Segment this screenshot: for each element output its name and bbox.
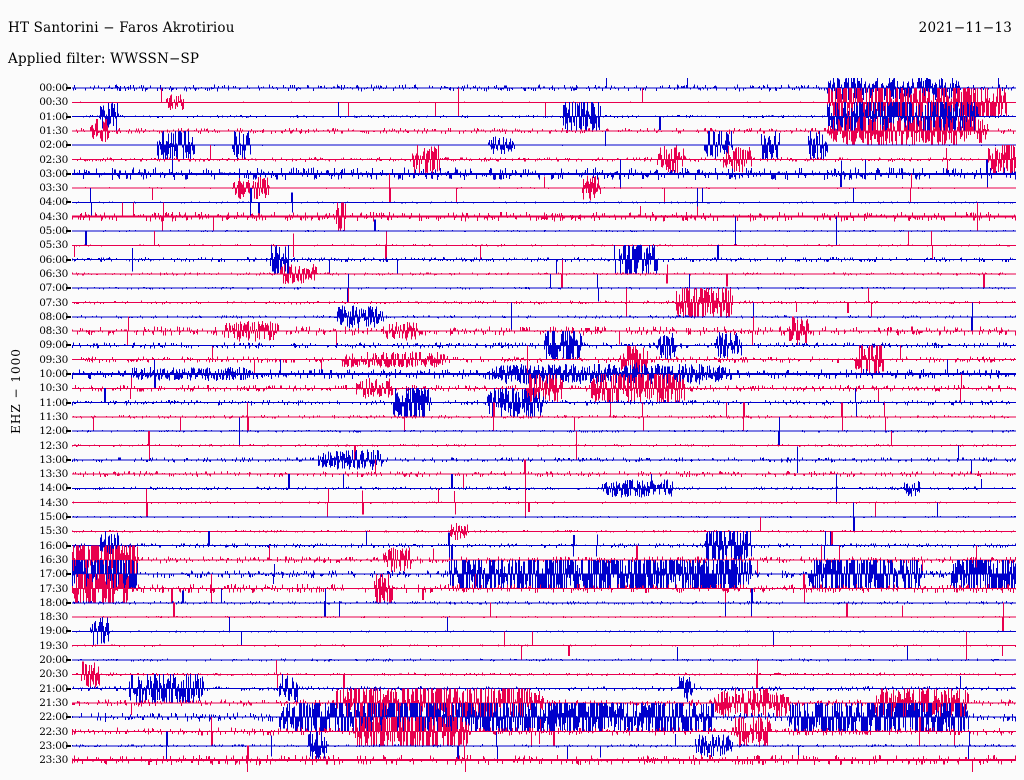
trace-waveform — [73, 746, 1016, 772]
trace-waveform — [79, 646, 1006, 662]
trace-row — [72, 288, 1016, 317]
trace-row — [72, 560, 1016, 589]
trace-waveform — [73, 703, 1016, 732]
trace-row — [72, 488, 1016, 517]
trace-canvas — [0, 78, 1024, 772]
page-title: HT Santorini − Faros Akrotiriou — [8, 20, 235, 36]
trace-row — [72, 703, 1016, 732]
trace-row — [72, 78, 1016, 101]
trace-row — [72, 474, 1016, 503]
trace-row — [72, 117, 1016, 146]
trace-row — [72, 274, 1016, 303]
trace-row — [72, 631, 1016, 660]
trace-row — [72, 231, 1016, 260]
date-label: 2021−11−13 — [919, 20, 1012, 36]
trace-row — [72, 531, 1016, 560]
trace-row — [72, 331, 1016, 360]
trace-row — [72, 145, 1016, 174]
trace-row — [72, 503, 1016, 532]
trace-row — [72, 445, 1016, 474]
trace-row — [72, 617, 1016, 646]
trace-row — [72, 302, 1016, 331]
trace-row — [72, 202, 1016, 231]
trace-row — [72, 417, 1016, 446]
helicorder-page: HT Santorini − Faros Akrotiriou Applied … — [0, 0, 1024, 780]
filter-label: Applied filter: WWSSN−SP — [8, 51, 199, 67]
trace-row — [72, 88, 1016, 117]
trace-row — [72, 403, 1016, 432]
trace-row — [72, 746, 1016, 772]
trace-row — [72, 431, 1016, 460]
trace-row — [72, 188, 1016, 217]
trace-row — [72, 731, 1016, 760]
trace-row — [72, 646, 1016, 662]
trace-row — [72, 245, 1016, 274]
seismogram-plot — [0, 78, 1024, 772]
trace-waveform — [74, 78, 1016, 101]
trace-row — [72, 260, 1016, 289]
trace-row — [72, 174, 1016, 203]
trace-row — [72, 603, 1016, 632]
trace-row — [72, 660, 1016, 689]
trace-row — [72, 517, 1016, 546]
trace-row — [72, 460, 1016, 489]
